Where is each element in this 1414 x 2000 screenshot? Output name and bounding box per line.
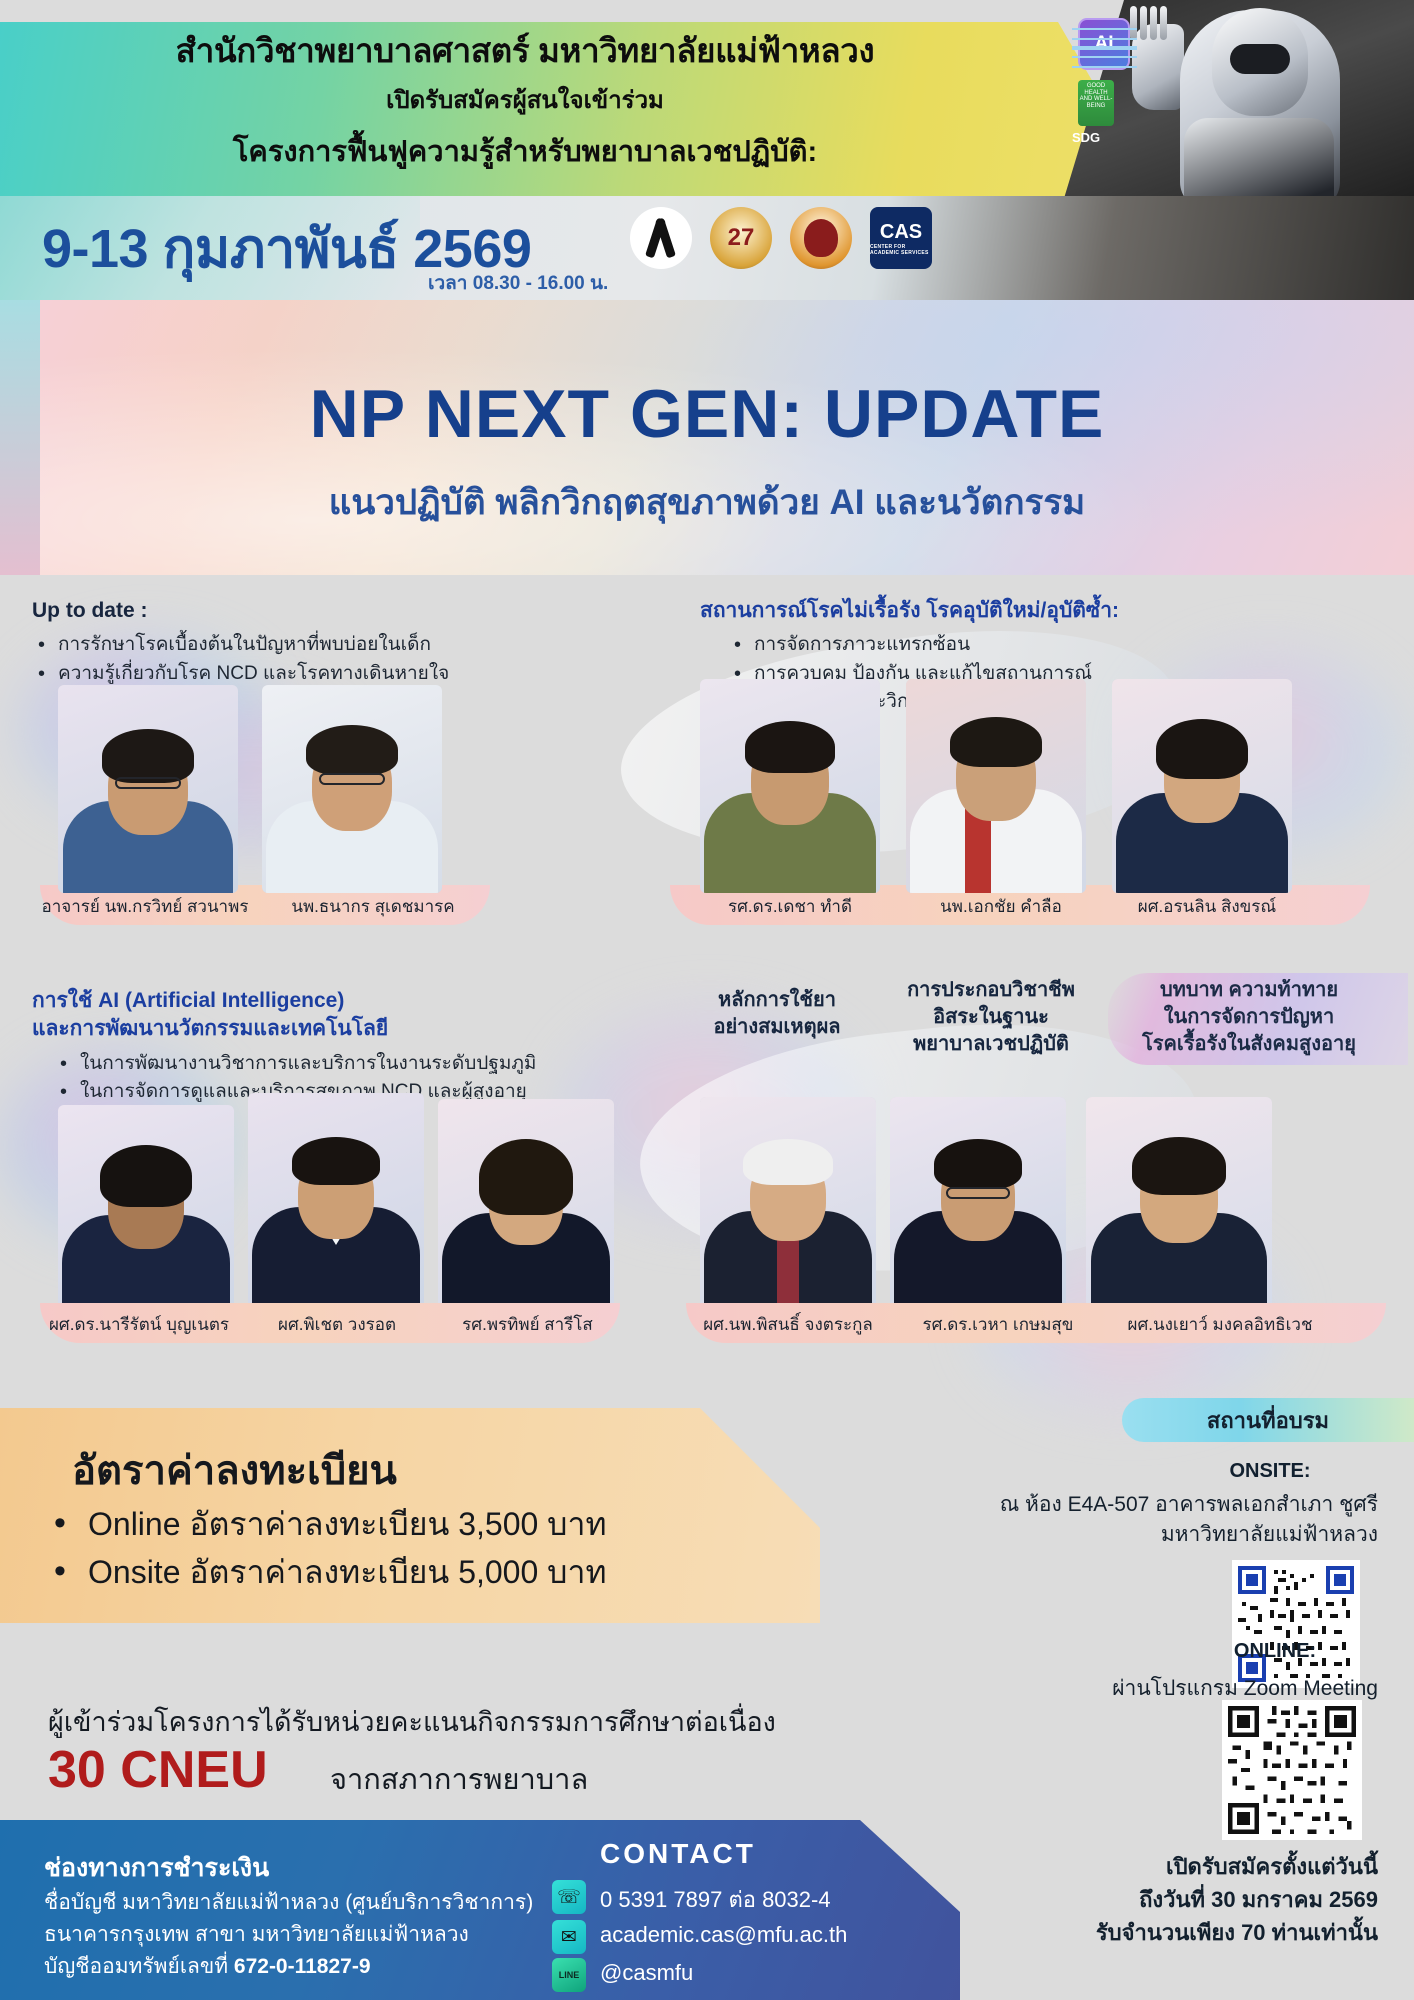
- onsite-label: ONSITE:: [1180, 1460, 1360, 1483]
- speaker-name: ผศ.ดร.นารีรัตน์ บุญเนตร: [14, 1311, 264, 1338]
- page-title: NP NEXT GEN: UPDATE: [0, 375, 1414, 453]
- mid-heading-line: บทบาท ความท้าทาย: [1104, 977, 1394, 1004]
- speaker-photo: [700, 1097, 876, 1311]
- ai-chip-icon: AI: [1078, 18, 1130, 70]
- speaker-photo: [58, 685, 238, 893]
- speaker-name: นพ.ธนากร สุเดชมารค: [258, 893, 488, 920]
- ai-robot-illustration: AI GOOD HEALTH AND WELL-BEING SDG: [1072, 0, 1414, 208]
- topic-bullet: การจัดการภาวะแทรกซ้อน: [728, 631, 1220, 660]
- speaker-photo: [700, 679, 880, 893]
- topic-section-up-to-date: Up to date : การรักษาโรคเบื้องต้นในปัญหา…: [32, 597, 532, 688]
- speaker-photo: [58, 1105, 234, 1311]
- speaker-photo: [438, 1099, 614, 1311]
- speaker-name: รศ.พรทิพย์ สารีโส: [420, 1311, 635, 1338]
- school-of-nursing-logo: [790, 207, 852, 269]
- qr-code-image: [1228, 1706, 1356, 1834]
- mid-heading-line: อิสระในฐานะ: [878, 1004, 1104, 1031]
- cneu-credit-value: 30 CNEU: [48, 1740, 268, 1800]
- payment-account-number-label: บัญชีออมทรัพย์เลขที่: [44, 1955, 234, 1978]
- speaker-name: ผศ.อรนลิน สิงขรณ์: [1082, 893, 1332, 920]
- payment-account-number-value: 672-0-11827-9: [234, 1955, 371, 1978]
- fee-list: Online อัตราค่าลงทะเบียน 3,500 บาท Onsit…: [42, 1500, 742, 1596]
- venue-address-line2: มหาวิทยาลัยแม่ฟ้าหลวง: [900, 1520, 1378, 1550]
- deadline-line2: ถึงวันที่ 30 มกราคม 2569: [960, 1883, 1378, 1916]
- speaker-photo: [890, 1097, 1066, 1311]
- topic-bullet: ในการพัฒนางานวิชาการและบริการในงานระดับป…: [54, 1050, 542, 1079]
- mid-column-heading: บทบาท ความท้าทาย ในการจัดการปัญหา โรคเรื…: [1104, 977, 1394, 1058]
- org-title: สำนักวิชาพยาบาลศาสตร์ มหาวิทยาลัยแม่ฟ้าห…: [0, 30, 1050, 71]
- fee-section-title: อัตราค่าลงทะเบียน: [72, 1438, 397, 1502]
- email-icon: ✉: [552, 1920, 586, 1954]
- topic-heading-line1: การใช้ AI (Artificial Intelligence): [32, 987, 542, 1015]
- robot-torso-icon: [1184, 118, 1334, 208]
- fee-item: Online อัตราค่าลงทะเบียน 3,500 บาท: [42, 1500, 742, 1548]
- mid-column-heading: หลักการใช้ยา อย่างสมเหตุผล: [672, 987, 882, 1041]
- cneu-issuer: จากสภาการพยาบาล: [330, 1756, 588, 1802]
- mid-column-heading: การประกอบวิชาชีพ อิสระในฐานะ พยาบาลเวชปฏ…: [878, 977, 1104, 1058]
- topic-heading-line2: และการพัฒนานวัตกรรมและเทคโนโลยี: [32, 1015, 542, 1043]
- robot-visor-icon: [1230, 44, 1290, 74]
- contact-line-id[interactable]: @casmfu: [600, 1960, 693, 1986]
- mfu-27-anniversary-logo: 27: [710, 207, 772, 269]
- cas-logo-text: CAS: [880, 221, 922, 244]
- poster-root: AI GOOD HEALTH AND WELL-BEING SDG สำนักว…: [0, 0, 1414, 2000]
- speaker-name: อาจารย์ นพ.กรวิทย์ สวนาพร: [30, 893, 260, 920]
- topic-bullet: การรักษาโรคเบื้องต้นในปัญหาที่พบบ่อยในเด…: [32, 631, 532, 660]
- mid-heading-line: ในการจัดการปัญหา: [1104, 1004, 1394, 1031]
- speaker-photo: [248, 1093, 424, 1311]
- contact-line-row[interactable]: @casmfu: [600, 1960, 693, 1986]
- deadline-line3: รับจำนวนเพียง 70 ท่านเท่านั้น: [960, 1916, 1378, 1949]
- venue-address: ณ ห้อง E4A-507 อาคารพลเอกสำเภา ชูศรี มหา…: [900, 1490, 1400, 1551]
- speaker-name: ผศ.พิเชต วงรอต: [232, 1311, 442, 1338]
- mid-heading-line: หลักการใช้ยา: [672, 987, 882, 1014]
- contact-email[interactable]: academic.cas@mfu.ac.th: [600, 1922, 847, 1948]
- header-text-block: สำนักวิชาพยาบาลศาสตร์ มหาวิทยาลัยแม่ฟ้าห…: [0, 30, 1050, 174]
- event-time: เวลา 08.30 - 16.00 น.: [428, 268, 608, 298]
- payment-account-number-row: บัญชีออมทรัพย์เลขที่ 672-0-11827-9: [44, 1950, 371, 1983]
- contact-phone-row[interactable]: 0 5391 7897 ต่อ 8032-4: [600, 1882, 831, 1917]
- onsite-qr-code[interactable]: [1232, 1560, 1360, 1688]
- venue-address-line1: ณ ห้อง E4A-507 อาคารพลเอกสำเภา ชูศรี: [900, 1490, 1378, 1520]
- phone-icon: ☏: [552, 1880, 586, 1914]
- contact-phone[interactable]: 0 5391 7897 ต่อ 8032-4: [600, 1882, 831, 1917]
- payment-heading: ช่องทางการชำระเงิน: [44, 1848, 269, 1888]
- logo-row: 27 CAS CENTER FOR ACADEMIC SERVICES: [630, 207, 932, 269]
- page-subtitle: แนวปฏิบัติ พลิกวิกฤตสุขภาพด้วย AI และนวั…: [0, 475, 1414, 530]
- fee-item: Onsite อัตราค่าลงทะเบียน 5,000 บาท: [42, 1548, 742, 1596]
- black-ribbon-icon: [648, 218, 674, 258]
- cas-logo-subtext: CENTER FOR ACADEMIC SERVICES: [870, 244, 932, 256]
- mid-heading-line: การประกอบวิชาชีพ: [878, 977, 1104, 1004]
- speaker-photo: [1086, 1097, 1272, 1311]
- venue-section-pill: สถานที่อบรม: [1122, 1398, 1414, 1442]
- topic-bullet-list: การรักษาโรคเบื้องต้นในปัญหาที่พบบ่อยในเด…: [32, 631, 532, 688]
- qr-code-image: [1238, 1566, 1354, 1682]
- mid-heading-line: โรคเรื้อรังในสังคมสูงอายุ: [1104, 1031, 1394, 1058]
- topic-section-ai: การใช้ AI (Artificial Intelligence) และก…: [32, 987, 542, 1107]
- contact-heading: CONTACT: [600, 1838, 756, 1870]
- mourning-ribbon-logo: [630, 207, 692, 269]
- nursing-emblem-icon: [804, 219, 838, 257]
- speaker-photo: [1112, 679, 1292, 893]
- content-area: Up to date : การรักษาโรคเบื้องต้นในปัญหา…: [0, 575, 1414, 1400]
- mid-heading-line: อย่างสมเหตุผล: [672, 1014, 882, 1041]
- registration-deadline: เปิดรับสมัครตั้งแต่วันนี้ ถึงวันที่ 30 ม…: [960, 1850, 1400, 1949]
- topic-heading: สถานการณ์โรคไม่เรื้อรัง โรคอุบัติใหม่/อุ…: [700, 597, 1220, 625]
- open-registration-line: เปิดรับสมัครผู้สนใจเข้าร่วม: [0, 80, 1050, 119]
- cneu-description: ผู้เข้าร่วมโครงการได้รับหน่วยคะแนนกิจกรร…: [48, 1700, 776, 1743]
- speaker-name: ผศ.นงเยาว์ มงคลอิทธิเวช: [1080, 1311, 1360, 1338]
- payment-account-name: ชื่อบัญชี มหาวิทยาลัยแม่ฟ้าหลวง (ศูนย์บร…: [44, 1886, 533, 1919]
- line-icon: LINE: [552, 1958, 586, 1992]
- speaker-photo: [906, 679, 1086, 893]
- speaker-photo: [262, 685, 442, 893]
- topic-heading: Up to date :: [32, 597, 532, 625]
- mid-heading-line: พยาบาลเวชปฏิบัติ: [878, 1031, 1104, 1058]
- payment-bank: ธนาคารกรุงเทพ สาขา มหาวิทยาลัยแม่ฟ้าหลวง: [44, 1918, 469, 1951]
- project-name-line: โครงการฟื้นฟูความรู้สำหรับพยาบาลเวชปฏิบั…: [0, 128, 1050, 174]
- online-qr-code[interactable]: [1222, 1700, 1362, 1840]
- deadline-line1: เปิดรับสมัครตั้งแต่วันนี้: [960, 1850, 1378, 1883]
- sdg-label: SDG: [1072, 130, 1100, 145]
- sdg-goal-icon: GOOD HEALTH AND WELL-BEING: [1078, 80, 1114, 126]
- cas-logo: CAS CENTER FOR ACADEMIC SERVICES: [870, 207, 932, 269]
- contact-email-row[interactable]: academic.cas@mfu.ac.th: [600, 1922, 847, 1948]
- robot-hand-icon: [1128, 6, 1174, 64]
- online-label: ONLINE:: [1180, 1640, 1370, 1663]
